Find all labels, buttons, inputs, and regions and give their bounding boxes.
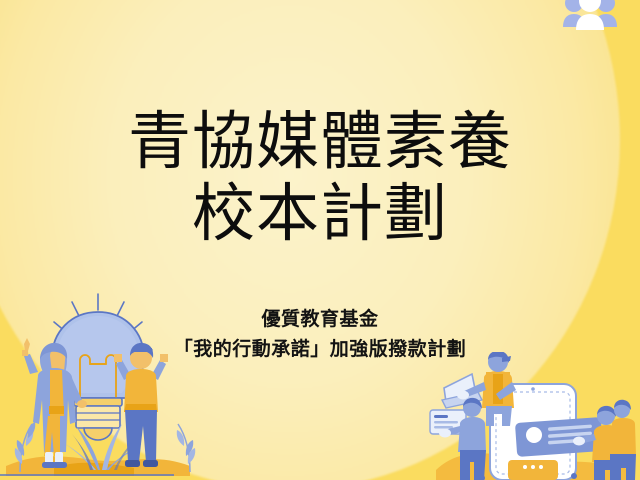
title-line-2: 校本計劃 (0, 178, 640, 250)
subtitle-line-2: 「我的行動承諾」加強版撥款計劃 (0, 334, 640, 364)
title-line-1: 青協媒體素養 (0, 106, 640, 178)
subtitle-line-1: 優質教育基金 (0, 304, 640, 334)
people-group-icon (563, 0, 617, 30)
poster-title: 青協媒體素養 校本計劃 (0, 106, 640, 250)
mobile-media-illustration (424, 352, 640, 480)
poster-canvas: 青協媒體素養 校本計劃 優質教育基金 「我的行動承諾」加強版撥款計劃 (0, 0, 640, 480)
poster-subtitle: 優質教育基金 「我的行動承諾」加強版撥款計劃 (0, 304, 640, 364)
